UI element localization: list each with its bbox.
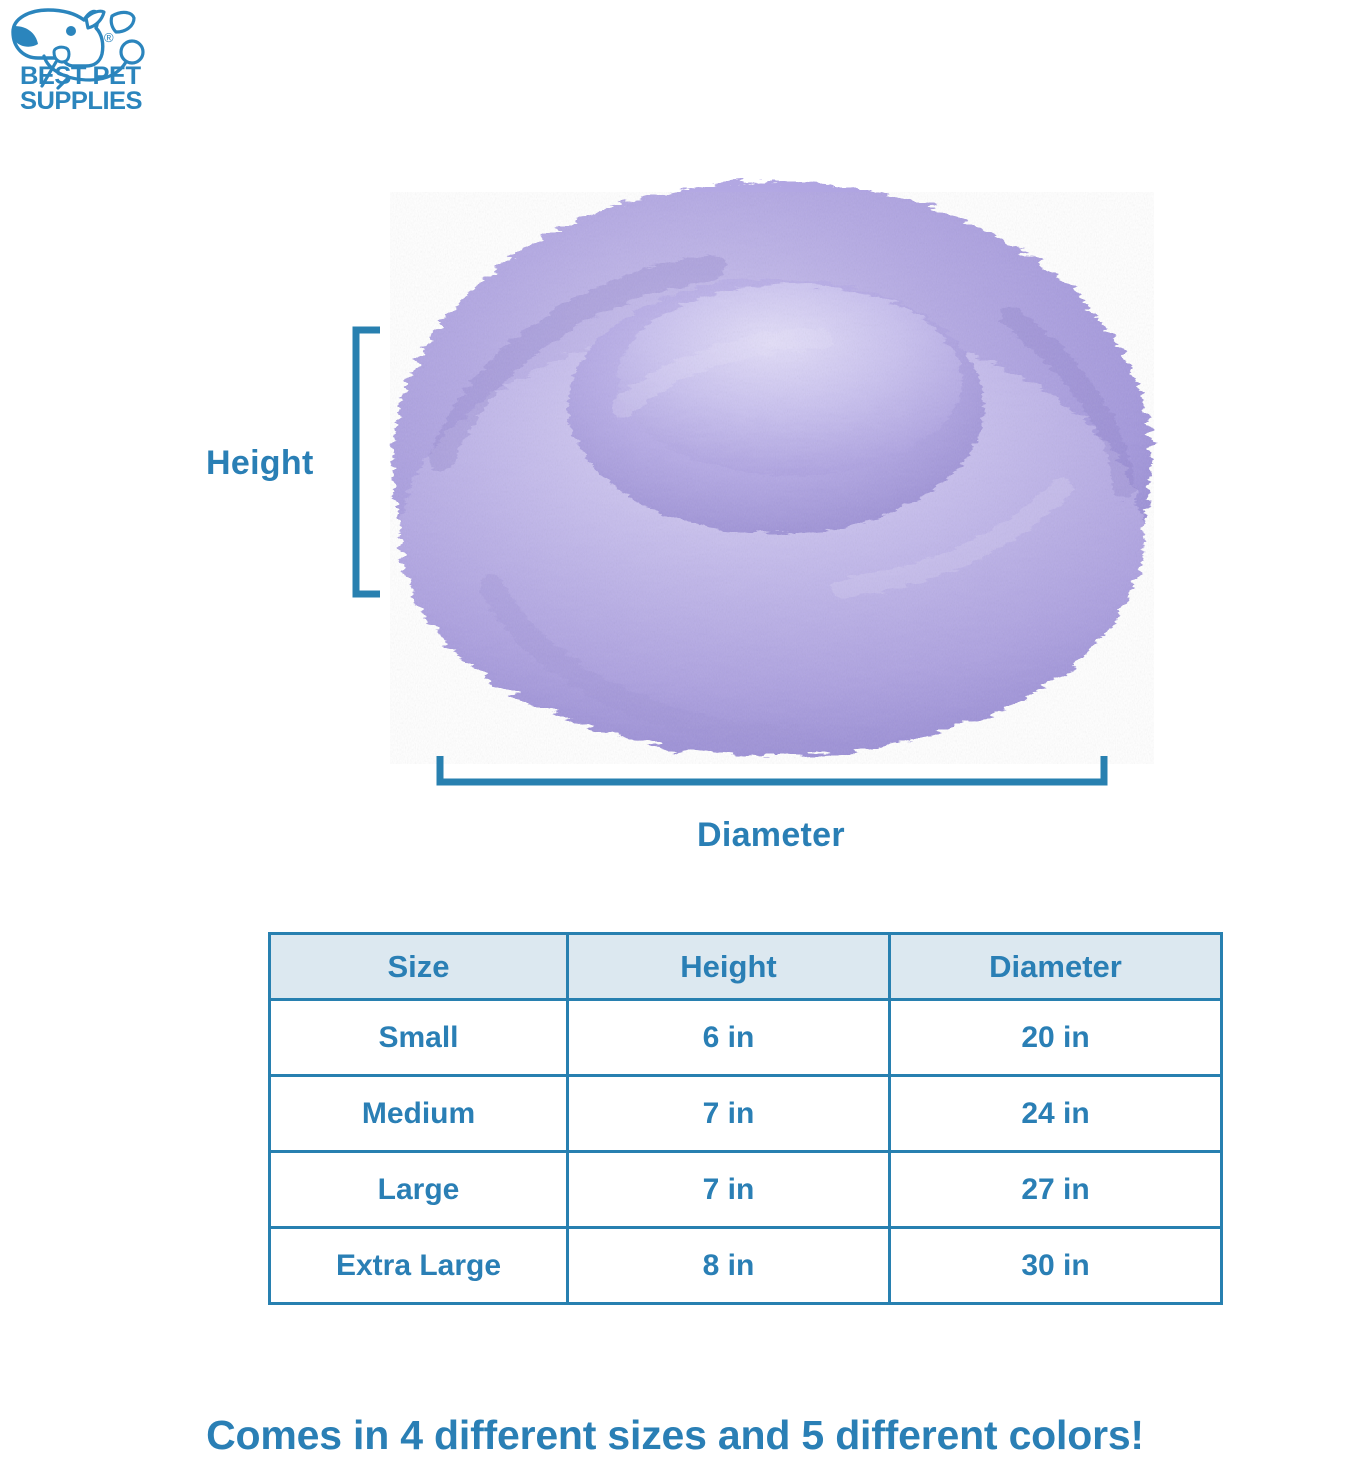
brand-wordmark: BEST PET SUPPLIES [20,64,142,114]
brand-wordmark-line2: SUPPLIES [20,89,142,114]
cell-diameter: 24 in [890,1076,1222,1152]
cell-diameter: 30 in [890,1228,1222,1304]
table-row: Small 6 in 20 in [270,1000,1222,1076]
svg-text:®: ® [104,30,114,45]
cell-size: Small [270,1000,568,1076]
cell-diameter: 20 in [890,1000,1222,1076]
table-row: Large 7 in 27 in [270,1152,1222,1228]
size-chart-table: Size Height Diameter Small 6 in 20 in Me… [268,932,1223,1305]
column-header-diameter: Diameter [890,934,1222,1000]
table-row: Extra Large 8 in 30 in [270,1228,1222,1304]
cell-height: 6 in [568,1000,890,1076]
product-image-pet-bed [372,158,1172,768]
table-header-row: Size Height Diameter [270,934,1222,1000]
cell-height: 8 in [568,1228,890,1304]
cell-size: Medium [270,1076,568,1152]
cell-diameter: 27 in [890,1152,1222,1228]
table-row: Medium 7 in 24 in [270,1076,1222,1152]
brand-logo: ® BEST PET SUPPLIES [8,4,188,134]
diameter-bracket [436,750,1108,790]
cell-height: 7 in [568,1076,890,1152]
infographic-page: ® BEST PET SUPPLIES [0,0,1350,1475]
brand-wordmark-line1: BEST PET [20,64,142,89]
cell-size: Extra Large [270,1228,568,1304]
diameter-dimension-label: Diameter [697,816,845,855]
footer-tagline: Comes in 4 different sizes and 5 differe… [0,1412,1350,1459]
column-header-size: Size [270,934,568,1000]
cell-height: 7 in [568,1152,890,1228]
height-dimension-label: Height [206,444,314,483]
column-header-height: Height [568,934,890,1000]
height-bracket [350,326,390,598]
cell-size: Large [270,1152,568,1228]
